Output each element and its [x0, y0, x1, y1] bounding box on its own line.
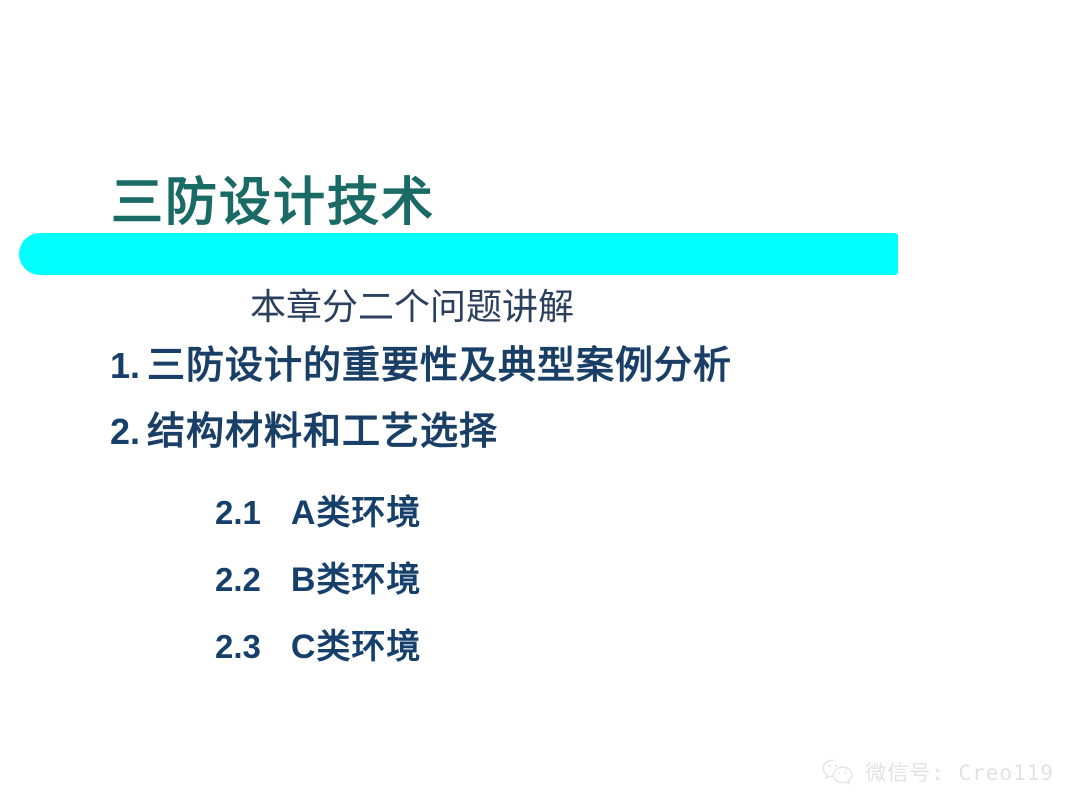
slide-subtitle: 本章分二个问题讲解 — [250, 283, 1080, 331]
sub-toc-list: 2.1A类环境 2.2B类环境 2.3C类环境 — [0, 483, 1080, 684]
toc-list: 1.三防设计的重要性及典型案例分析 2.结构材料和工艺选择 — [0, 337, 1080, 469]
toc-item-number: 1. — [110, 345, 140, 386]
sub-toc-item-number: 2.2 — [215, 561, 261, 598]
list-item: 2.2B类环境 — [215, 550, 1080, 617]
list-item: 2.3C类环境 — [215, 617, 1080, 684]
accent-bar — [19, 233, 898, 275]
toc-item-label: 三防设计的重要性及典型案例分析 — [147, 345, 732, 387]
sub-toc-item-label: C类环境 — [291, 628, 422, 666]
presentation-slide: 三防设计技术 本章分二个问题讲解 1.三防设计的重要性及典型案例分析 2.结构材… — [0, 0, 1080, 810]
sub-toc-item-label: A类环境 — [291, 494, 422, 532]
sub-toc-item-label: B类环境 — [291, 561, 422, 599]
list-item: 2.结构材料和工艺选择 — [110, 403, 1080, 469]
slide-body: 本章分二个问题讲解 1.三防设计的重要性及典型案例分析 2.结构材料和工艺选择 … — [0, 283, 1080, 684]
toc-item-label: 结构材料和工艺选择 — [147, 411, 498, 453]
page-title: 三防设计技术 — [111, 173, 435, 235]
watermark-text: 微信号: Creo119 — [865, 757, 1054, 787]
list-item: 1.三防设计的重要性及典型案例分析 — [110, 337, 1080, 403]
list-item: 2.1A类环境 — [215, 483, 1080, 550]
sub-toc-item-number: 2.3 — [215, 628, 261, 665]
wechat-icon — [821, 758, 855, 786]
watermark: 微信号: Creo119 — [821, 757, 1054, 787]
toc-item-number: 2. — [110, 411, 140, 452]
sub-toc-item-number: 2.1 — [215, 494, 261, 531]
